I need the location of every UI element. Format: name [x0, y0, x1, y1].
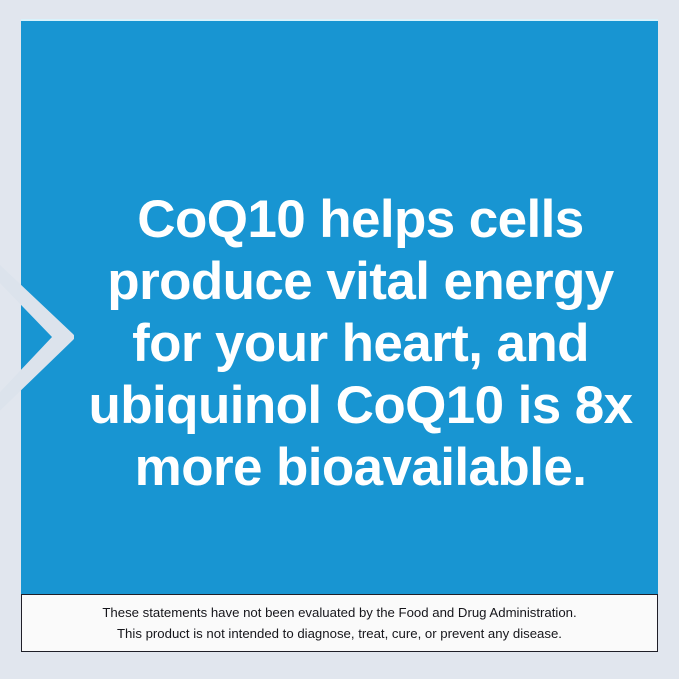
headline-line-2: produce vital energy [42, 251, 658, 313]
headline-line-1: CoQ10 helps cells [42, 189, 658, 251]
fda-disclaimer-box: These statements have not been evaluated… [21, 594, 658, 652]
headline-text: CoQ10 helps cells produce vital energy f… [42, 189, 658, 499]
blue-message-panel: CoQ10 helps cells produce vital energy f… [21, 21, 658, 594]
disclaimer-line-1: These statements have not been evaluated… [102, 602, 576, 623]
disclaimer-line-2: This product is not intended to diagnose… [117, 623, 562, 644]
headline-line-5: more bioavailable. [42, 437, 658, 499]
headline-line-4: ubiquinol CoQ10 is 8x [42, 375, 658, 437]
product-infographic-card: CoQ10 helps cells produce vital energy f… [0, 0, 679, 679]
headline-line-3: for your heart, and [42, 313, 658, 375]
